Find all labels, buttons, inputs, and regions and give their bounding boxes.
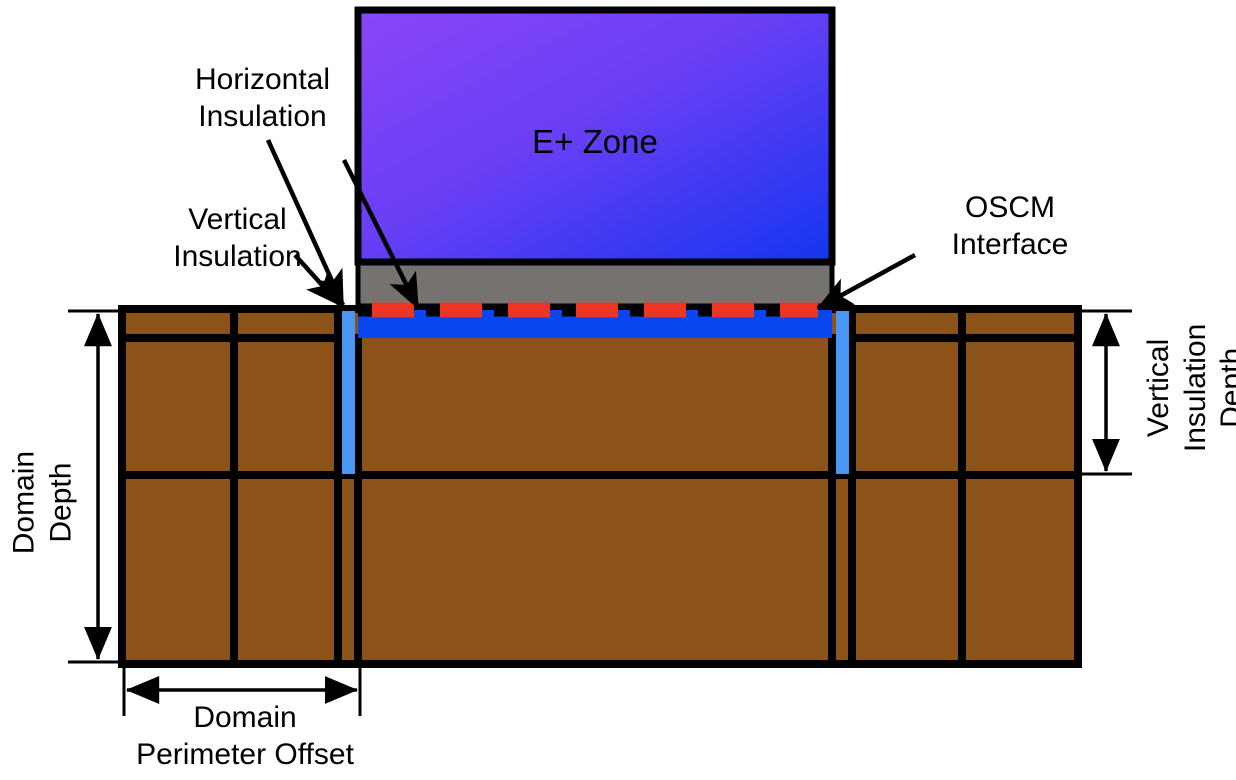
slab-gray-band	[358, 263, 832, 306]
vertical-insulation-depth-label: Vertical Insulation Depth	[1141, 278, 1236, 498]
vertical-insulation-label: Vertical Insulation	[130, 202, 345, 275]
ep-zone-label: E+ Zone	[358, 122, 832, 162]
vertical-insulation-right	[836, 311, 849, 474]
domain-perimeter-offset-label: Domain Perimeter Offset	[110, 700, 380, 773]
oscm-interface-label: OSCM Interface	[900, 190, 1120, 263]
soil-domain-group	[122, 309, 1078, 664]
domain-depth-label: Domain Depth	[6, 423, 79, 583]
vertical-insulation-left	[342, 311, 355, 474]
diagram-canvas: E+ Zone Horizontal Insulation Vertical I…	[0, 0, 1236, 780]
soil-domain-rect	[122, 309, 1078, 664]
slab-group	[358, 263, 832, 306]
horizontal-insulation-label: Horizontal Insulation	[135, 62, 390, 135]
